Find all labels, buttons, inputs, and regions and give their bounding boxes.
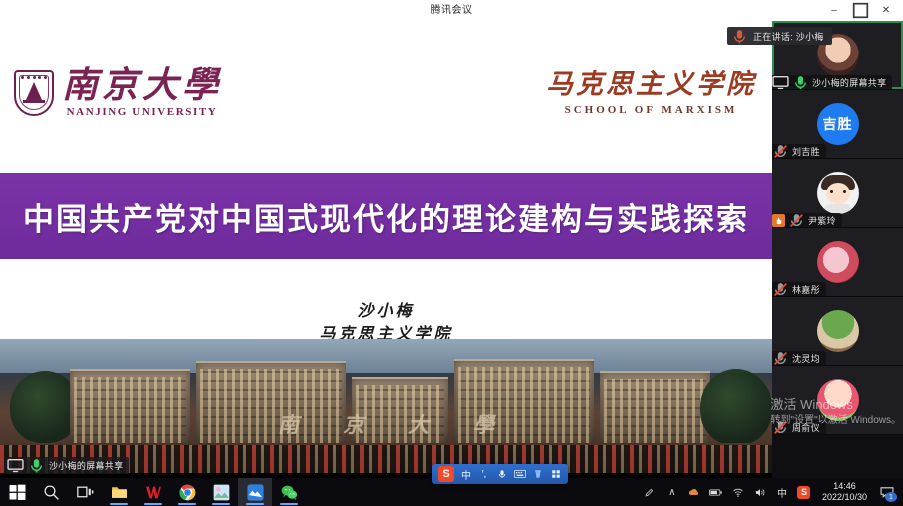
- wifi-icon: [732, 487, 744, 498]
- taskbar-app-photos[interactable]: [204, 478, 238, 506]
- tencent-meeting-icon: [247, 484, 264, 501]
- microphone-muted-icon: [772, 419, 789, 436]
- notification-center-button[interactable]: 1: [875, 478, 899, 506]
- maximize-icon: [852, 2, 869, 19]
- clock-time: 14:46: [822, 481, 867, 492]
- tray-input-mode[interactable]: 中: [772, 478, 792, 506]
- task-view-button[interactable]: [68, 478, 102, 506]
- search-button[interactable]: [34, 478, 68, 506]
- ime-punctuation-toggle[interactable]: ′,: [478, 466, 490, 482]
- taskbar-app-wps-office[interactable]: [136, 478, 170, 506]
- monitor-icon: [772, 74, 789, 91]
- microphone-icon: [731, 28, 748, 45]
- tray-sogou-icon[interactable]: S: [794, 478, 814, 506]
- wechat-icon: [281, 484, 298, 501]
- taskbar-clock[interactable]: 14:46 2022/10/30: [816, 481, 873, 503]
- google-chrome-icon: [179, 484, 196, 501]
- ime-skin-button[interactable]: [532, 466, 544, 482]
- participant-name: 刘吉胜: [792, 145, 820, 158]
- tencent-meeting-window: 腾讯会议 – ✕ 南京大學: [0, 0, 903, 506]
- ime-language-toggle[interactable]: 中: [460, 466, 472, 482]
- wps-office-icon: [145, 484, 162, 501]
- photos-icon: [213, 484, 230, 501]
- campus-photo: 南 京 大 學: [0, 339, 772, 473]
- microphone-muted-icon: [788, 212, 805, 229]
- gate-char: 京: [343, 409, 364, 439]
- gate-inscription: 南 京 大 學: [278, 409, 494, 439]
- raise-hand-glyph: [774, 216, 783, 225]
- participant-label: 沙小梅的屏幕共享: [772, 75, 892, 89]
- participant-label: 周俞仪: [772, 420, 826, 434]
- building: [600, 371, 710, 449]
- participant-label: 沈灵均: [772, 351, 826, 365]
- windows-start-icon: [9, 484, 26, 501]
- tray-chevron-up-button[interactable]: ∧: [662, 478, 682, 506]
- participant-tile[interactable]: 尹紫玲: [772, 159, 903, 228]
- task-view-icon: [77, 484, 94, 501]
- taskbar-apps: [0, 478, 306, 506]
- participant-name: 沙小梅的屏幕共享: [812, 76, 886, 89]
- avatar: [817, 379, 859, 421]
- participant-name: 尹紫玲: [808, 214, 836, 227]
- participant-name: 周俞仪: [792, 421, 820, 434]
- avatar: 吉胜: [817, 103, 859, 145]
- tray-volume-icon[interactable]: [750, 478, 770, 506]
- search-icon: [43, 484, 60, 501]
- tree: [700, 369, 772, 445]
- tray-expand-button[interactable]: [640, 478, 660, 506]
- taskbar-app-wechat[interactable]: [272, 478, 306, 506]
- participant-tile[interactable]: 林嘉彤: [772, 228, 903, 297]
- school-name-en: SCHOOL OF MARXISM: [565, 104, 738, 116]
- tray-onedrive-icon[interactable]: [684, 478, 704, 506]
- cloud-icon: [688, 486, 700, 498]
- microphone-muted-icon: [772, 281, 789, 298]
- nanjing-university-logo: 南京大學 NANJING UNIVERSITY: [14, 67, 222, 118]
- maximize-button[interactable]: [847, 0, 873, 21]
- notification-badge: 1: [885, 492, 897, 502]
- taskbar-app-google-chrome[interactable]: [170, 478, 204, 506]
- taskbar-app-tencent-meeting[interactable]: [238, 478, 272, 506]
- avatar: [817, 310, 859, 352]
- microphone-muted-icon: [772, 143, 789, 160]
- gate-char: 南: [278, 409, 299, 439]
- participant-name: 沈灵均: [792, 352, 820, 365]
- participant-rail[interactable]: 沙小梅的屏幕共享 吉胜 刘吉胜: [772, 21, 903, 478]
- participant-tile[interactable]: 吉胜 刘吉胜: [772, 90, 903, 159]
- avatar: [817, 172, 859, 214]
- apps-grid-icon: [551, 469, 561, 479]
- tray-network-icon[interactable]: [728, 478, 748, 506]
- sogou-glyph: S: [797, 486, 810, 499]
- microphone-icon: [28, 457, 45, 474]
- university-name-en: NANJING UNIVERSITY: [67, 106, 218, 118]
- participant-label: 林嘉彤: [772, 282, 826, 296]
- raise-hand-icon: [772, 214, 785, 227]
- ime-voice-input-button[interactable]: [496, 466, 508, 482]
- close-button[interactable]: ✕: [873, 0, 899, 21]
- university-wordmark: 南京大學 NANJING UNIVERSITY: [62, 67, 222, 118]
- skin-icon: [533, 469, 543, 479]
- presenter-name: 沙小梅: [0, 299, 772, 322]
- school-of-marxism-logo: 马克思主义学院 SCHOOL OF MARXISM: [546, 71, 756, 116]
- participant-name: 林嘉彤: [792, 283, 820, 296]
- keyboard-icon: [514, 469, 526, 479]
- start-button[interactable]: [0, 478, 34, 506]
- microphone-muted-icon: [772, 350, 789, 367]
- participant-tile[interactable]: 沈灵均: [772, 297, 903, 366]
- speaker-icon: [754, 487, 766, 498]
- shared-screen-area[interactable]: 南京大學 NANJING UNIVERSITY 马克思主义学院 SCHOOL O…: [0, 21, 772, 478]
- participant-label: 尹紫玲: [772, 213, 842, 227]
- screen-share-label-text: 沙小梅的屏幕共享: [49, 459, 123, 472]
- participant-tile[interactable]: 周俞仪: [772, 366, 903, 435]
- speaking-indicator-text: 正在讲话: 沙小梅: [753, 30, 824, 43]
- university-name-cn: 南京大學: [62, 67, 222, 103]
- sky: [0, 339, 772, 373]
- presentation-slide: 南京大學 NANJING UNIVERSITY 马克思主义学院 SCHOOL O…: [0, 21, 772, 473]
- ime-toolbar[interactable]: S 中 ′,: [432, 464, 568, 484]
- microphone-icon: [792, 74, 809, 91]
- pen-tray-icon: [644, 487, 655, 498]
- participant-label: 刘吉胜: [772, 144, 826, 158]
- window-controls: – ✕: [821, 0, 899, 21]
- avatar: [817, 241, 859, 283]
- gate-char: 學: [473, 409, 494, 439]
- monitor-icon: [7, 457, 24, 474]
- battery-icon: [709, 488, 722, 497]
- slide-title: 中国共产党对中国式现代化的理论建构与实践探索: [0, 194, 772, 239]
- ime-keyboard-button[interactable]: [514, 466, 526, 482]
- minimize-button[interactable]: –: [821, 0, 847, 21]
- screen-share-label: 沙小梅的屏幕共享: [4, 457, 129, 474]
- tray-battery-icon[interactable]: [706, 478, 726, 506]
- taskbar-app-file-explorer[interactable]: [102, 478, 136, 506]
- system-tray: ∧: [640, 478, 903, 506]
- ime-apps-button[interactable]: [550, 466, 562, 482]
- slide-header: 南京大學 NANJING UNIVERSITY 马克思主义学院 SCHOOL O…: [0, 21, 772, 146]
- school-name-cn: 马克思主义学院: [546, 71, 756, 98]
- microphone-icon: [497, 469, 507, 479]
- building: [70, 369, 190, 449]
- sogou-logo-icon[interactable]: S: [438, 466, 454, 482]
- file-explorer-icon: [111, 484, 128, 501]
- speaking-indicator: 正在讲话: 沙小梅: [727, 27, 832, 45]
- university-shield-icon: [14, 70, 54, 116]
- title-bar: 腾讯会议 – ✕: [0, 0, 903, 21]
- slide-title-band: 中国共产党对中国式现代化的理论建构与实践探索: [0, 173, 772, 259]
- gate-char: 大: [408, 409, 429, 439]
- window-title: 腾讯会议: [0, 0, 903, 21]
- clock-date: 2022/10/30: [822, 492, 867, 503]
